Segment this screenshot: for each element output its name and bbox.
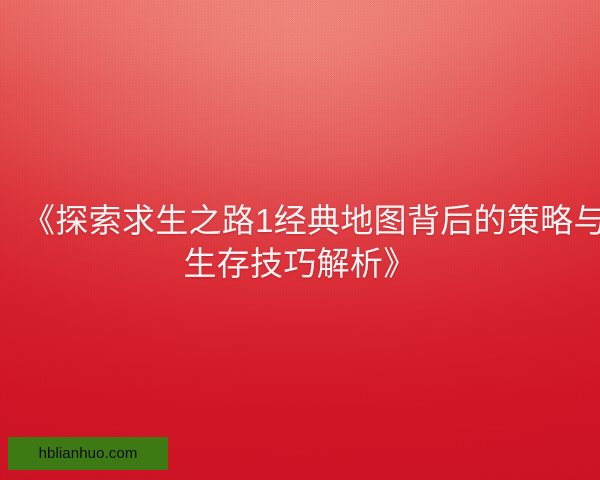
title-line-1: 《探索求生之路1经典地图背后的策略与 (22, 199, 578, 242)
watermark-label: hblianhuo.com (39, 446, 138, 461)
poster-title: 《探索求生之路1经典地图背后的策略与 生存技巧解析》 (0, 199, 600, 285)
title-line-2: 生存技巧解析》 (22, 242, 578, 285)
watermark-badge: hblianhuo.com (8, 437, 168, 470)
poster-canvas: 《探索求生之路1经典地图背后的策略与 生存技巧解析》 hblianhuo.com (0, 0, 600, 480)
